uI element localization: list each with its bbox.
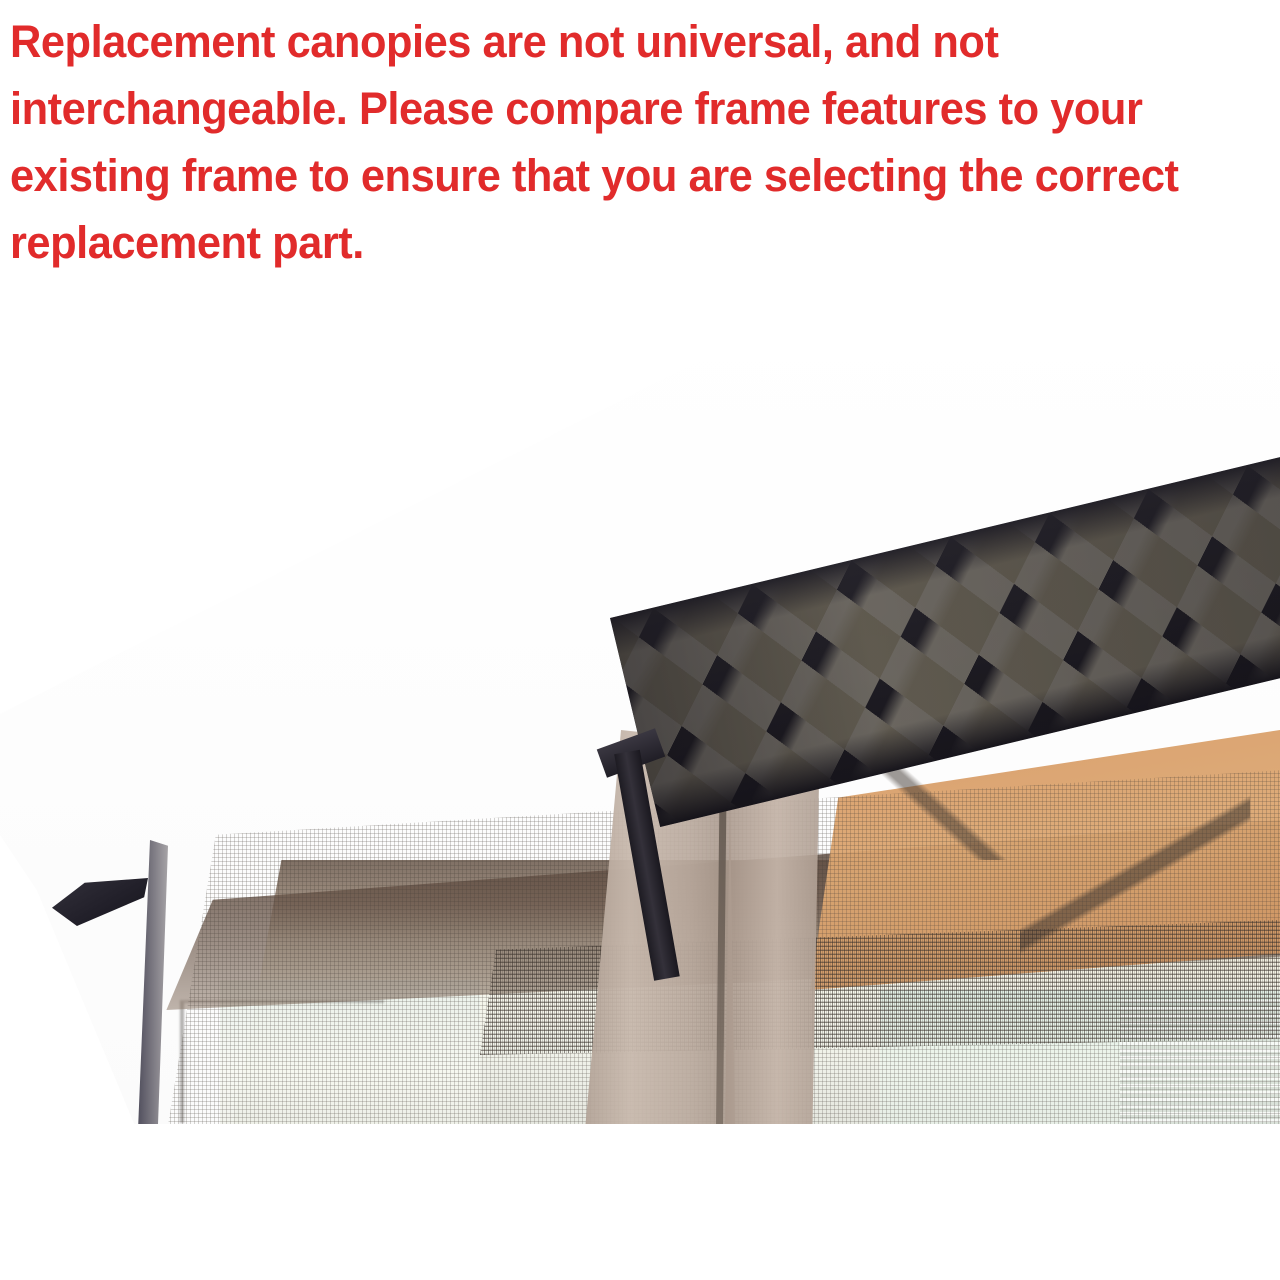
gazebo-photo: Close-up photograph of a gazebo roof cor… (0, 300, 1280, 1130)
page-root: Replacement canopies are not universal, … (0, 0, 1280, 1280)
notice-line-4: replacement part. (10, 209, 1211, 276)
notice-line-1: Replacement canopies are not universal, … (10, 8, 1211, 75)
roof-corner-tip (52, 878, 148, 926)
notice-line-2: interchangeable. Please compare frame fe… (10, 75, 1211, 142)
lattice-valance-far (52, 300, 1280, 478)
gazebo-structure (0, 300, 1280, 1130)
notice-line-3: existing frame to ensure that you are se… (10, 142, 1211, 209)
lattice-shading-far (52, 300, 1280, 478)
warning-notice: Replacement canopies are not universal, … (10, 8, 1255, 276)
